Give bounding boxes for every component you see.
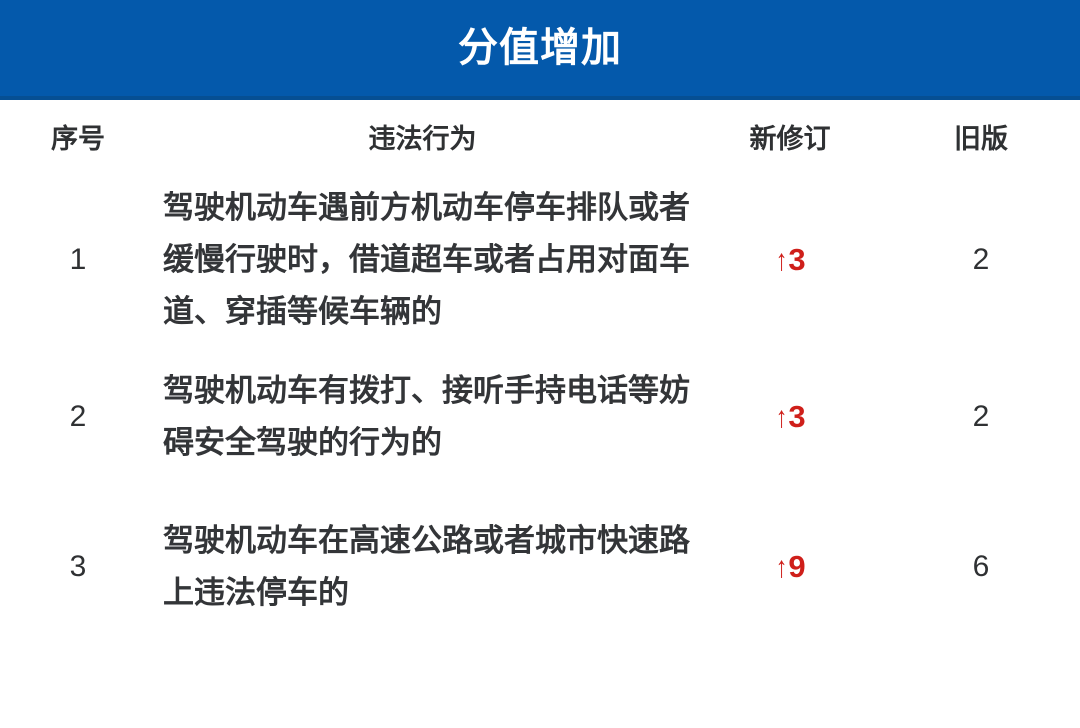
score-increase-table-page: 分值增加 序号 违法行为 新修订 旧版 1 驾驶机动车遇前方机动车停车排队或者缓…	[0, 0, 1080, 728]
arrow-up-icon: ↑	[776, 553, 788, 583]
row-new-score-cell: ↑3	[700, 178, 880, 342]
column-header-new-revision: 新修订	[700, 100, 880, 178]
row-new-score-cell: ↑9	[700, 492, 880, 642]
page-title: 分值增加	[0, 0, 1080, 96]
table-header-row: 序号 违法行为 新修订 旧版	[0, 100, 1080, 178]
table-row: 3 驾驶机动车在高速公路或者城市快速路上违法停车的 ↑9 6	[0, 492, 1080, 642]
row-violation-text: 驾驶机动车有拨打、接听手持电话等妨碍安全驾驶的行为的	[163, 365, 703, 469]
row-violation-cell: 驾驶机动车遇前方机动车停车排队或者缓慢行驶时，借道超车或者占用对面车道、穿插等候…	[163, 178, 703, 342]
row-violation-text: 驾驶机动车在高速公路或者城市快速路上违法停车的	[163, 515, 703, 619]
row-index: 1	[18, 178, 138, 342]
page-banner: 分值增加	[0, 0, 1080, 96]
row-violation-cell: 驾驶机动车在高速公路或者城市快速路上违法停车的	[163, 492, 703, 642]
row-index: 3	[18, 492, 138, 642]
violations-table: 序号 违法行为 新修订 旧版 1 驾驶机动车遇前方机动车停车排队或者缓慢行驶时，…	[0, 100, 1080, 642]
arrow-up-icon: ↑	[776, 246, 788, 276]
row-old-score-value: 2	[900, 342, 1062, 492]
row-violation-text: 驾驶机动车遇前方机动车停车排队或者缓慢行驶时，借道超车或者占用对面车道、穿插等候…	[163, 182, 703, 338]
row-index: 2	[18, 342, 138, 492]
table-row: 1 驾驶机动车遇前方机动车停车排队或者缓慢行驶时，借道超车或者占用对面车道、穿插…	[0, 178, 1080, 342]
column-header-old-version: 旧版	[900, 100, 1062, 178]
row-new-score-value: 9	[788, 549, 805, 585]
table-row: 2 驾驶机动车有拨打、接听手持电话等妨碍安全驾驶的行为的 ↑3 2	[0, 342, 1080, 492]
column-header-violation: 违法行为	[150, 100, 695, 178]
row-new-score-value: 3	[788, 242, 805, 278]
row-violation-cell: 驾驶机动车有拨打、接听手持电话等妨碍安全驾驶的行为的	[163, 342, 703, 492]
row-new-score-value: 3	[788, 399, 805, 435]
table-body: 1 驾驶机动车遇前方机动车停车排队或者缓慢行驶时，借道超车或者占用对面车道、穿插…	[0, 178, 1080, 642]
row-new-score-cell: ↑3	[700, 342, 880, 492]
row-old-score-value: 6	[900, 492, 1062, 642]
row-old-score-value: 2	[900, 178, 1062, 342]
column-header-index: 序号	[18, 100, 138, 178]
arrow-up-icon: ↑	[776, 403, 788, 433]
